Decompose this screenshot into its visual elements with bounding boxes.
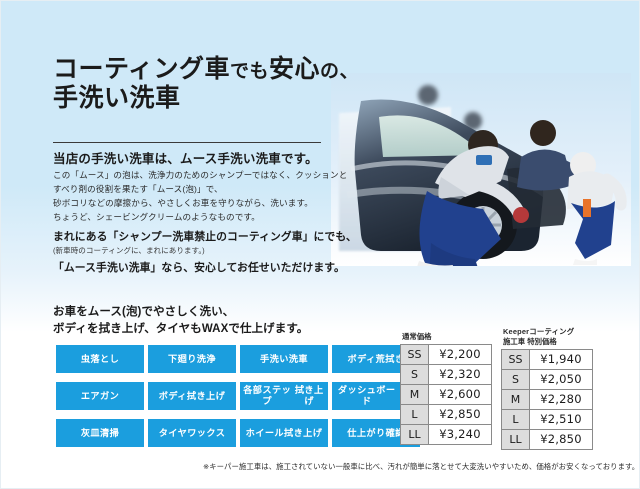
service-chip-label: ホイール bbox=[246, 428, 284, 439]
price-row: S¥2,050 bbox=[502, 369, 593, 389]
price-amount-cell: ¥2,320 bbox=[429, 364, 492, 384]
page-title-line1: コーティング車でも安心の、 bbox=[53, 55, 353, 84]
title-part-main: コーティング車 bbox=[53, 55, 230, 83]
service-chip[interactable]: 各部ステップ拭き上げ bbox=[240, 382, 328, 410]
price-table-keeper-grid: SS¥1,940S¥2,050M¥2,280L¥2,510LL¥2,850 bbox=[501, 349, 593, 450]
price-size-cell: LL bbox=[401, 424, 429, 444]
service-chip-label: 下廻り洗浄 bbox=[168, 354, 216, 365]
price-table-normal-title: 通常価格 bbox=[402, 332, 492, 342]
service-chip[interactable]: ボディ拭き上げ bbox=[148, 382, 236, 410]
service-chip[interactable]: タイヤワックス bbox=[148, 419, 236, 447]
title-divider bbox=[53, 142, 321, 143]
service-chip-label: ダッシュボード bbox=[334, 385, 399, 407]
body-line: ちょうど、シェービングクリームのようなものです。 bbox=[53, 211, 353, 225]
price-table-keeper: Keeperコーティング 施工車 特別価格 SS¥1,940S¥2,050M¥2… bbox=[501, 327, 593, 450]
service-chip-label: タイヤワックス bbox=[159, 428, 226, 439]
service-chip-label: 仕上がり確認 bbox=[347, 428, 405, 439]
body-line: 砂ボコリなどの摩擦から、やさしくお車を守りながら、洗います。 bbox=[53, 197, 353, 211]
price-row: LL¥2,850 bbox=[502, 429, 593, 449]
service-chip-label: 各部ステップ bbox=[242, 385, 292, 407]
price-size-cell: L bbox=[502, 409, 530, 429]
price-amount-cell: ¥3,240 bbox=[429, 424, 492, 444]
service-chip[interactable]: ホイール拭き上げ bbox=[240, 419, 328, 447]
body-strong-2: 「ムース手洗い洗車」なら、安心してお任せいただけます。 bbox=[53, 260, 353, 277]
service-chip-label: 拭き上げ bbox=[284, 428, 322, 439]
price-amount-cell: ¥2,050 bbox=[530, 369, 593, 389]
price-row: LL¥3,240 bbox=[401, 424, 492, 444]
price-size-cell: M bbox=[401, 384, 429, 404]
footnote: ※キーパー施工車は、施工されていない一般車に比べ、汚れが簡単に落とせて大変洗いや… bbox=[203, 462, 633, 472]
service-chip-label: 手洗い洗車 bbox=[260, 354, 308, 365]
lead-statement: 当店の手洗い洗車は、ムース手洗い洗車です。 bbox=[53, 148, 343, 167]
body-note: (新車時のコーティングに、まれにあります。) bbox=[53, 245, 353, 256]
price-row: SS¥1,940 bbox=[502, 349, 593, 369]
service-chip-label: 灰皿清掃 bbox=[81, 428, 119, 439]
price-table-normal-grid: SS¥2,200S¥2,320M¥2,600L¥2,850LL¥3,240 bbox=[400, 344, 492, 445]
price-size-cell: S bbox=[502, 369, 530, 389]
service-chip[interactable]: 虫落とし bbox=[56, 345, 144, 373]
service-chip-label: ボディ bbox=[159, 391, 187, 402]
service-chip-label: 拭き上げ bbox=[187, 391, 225, 402]
price-size-cell: S bbox=[401, 364, 429, 384]
price-row: L¥2,510 bbox=[502, 409, 593, 429]
price-row: M¥2,600 bbox=[401, 384, 492, 404]
price-size-cell: LL bbox=[502, 429, 530, 449]
price-size-cell: SS bbox=[502, 349, 530, 369]
service-chip[interactable]: 手洗い洗車 bbox=[240, 345, 328, 373]
price-row: M¥2,280 bbox=[502, 389, 593, 409]
service-chip-label: 虫落とし bbox=[81, 354, 119, 365]
service-heading: お車をムース(泡)でやさしく洗い、 ボディを拭き上げ、タイヤもWAXで仕上げます… bbox=[53, 304, 383, 339]
service-heading-line2: ボディを拭き上げ、タイヤもWAXで仕上げます。 bbox=[53, 321, 383, 338]
title-part-demo: でも bbox=[230, 61, 269, 82]
price-size-cell: L bbox=[401, 404, 429, 424]
price-amount-cell: ¥2,600 bbox=[429, 384, 492, 404]
body-line: この「ムース」の泡は、洗浄力のためのシャンプーではなく、クッションと bbox=[53, 169, 353, 183]
hand-wash-photo bbox=[331, 73, 631, 266]
price-table-keeper-title: Keeperコーティング 施工車 特別価格 bbox=[503, 327, 593, 347]
keeper-title-line1: Keeperコーティング bbox=[503, 327, 574, 336]
service-heading-line1: お車をムース(泡)でやさしく洗い、 bbox=[53, 304, 383, 321]
promo-page: コーティング車でも安心の、 手洗い洗車 当店の手洗い洗車は、ムース手洗い洗車です… bbox=[0, 0, 640, 489]
title-part-anshin: 安心 bbox=[269, 55, 320, 83]
price-amount-cell: ¥2,280 bbox=[530, 389, 593, 409]
page-title: コーティング車でも安心の、 手洗い洗車 bbox=[53, 55, 353, 113]
keeper-title-line2: 施工車 特別価格 bbox=[503, 337, 557, 346]
service-chip-grid: 虫落とし下廻り洗浄手洗い洗車ボディ荒拭きエアガンボディ拭き上げ各部ステップ拭き上… bbox=[56, 345, 420, 447]
price-amount-cell: ¥2,850 bbox=[530, 429, 593, 449]
service-chip[interactable]: エアガン bbox=[56, 382, 144, 410]
price-row: L¥2,850 bbox=[401, 404, 492, 424]
price-amount-cell: ¥1,940 bbox=[530, 349, 593, 369]
body-line: すべり剤の役割を果たす「ムース(泡)」で、 bbox=[53, 183, 353, 197]
service-chip[interactable]: 下廻り洗浄 bbox=[148, 345, 236, 373]
price-size-cell: SS bbox=[401, 344, 429, 364]
title-part-no: の、 bbox=[320, 61, 359, 82]
price-amount-cell: ¥2,850 bbox=[429, 404, 492, 424]
price-amount-cell: ¥2,510 bbox=[530, 409, 593, 429]
price-row: S¥2,320 bbox=[401, 364, 492, 384]
service-chip-label: エアガン bbox=[81, 391, 119, 402]
service-chip[interactable]: 灰皿清掃 bbox=[56, 419, 144, 447]
price-size-cell: M bbox=[502, 389, 530, 409]
price-row: SS¥2,200 bbox=[401, 344, 492, 364]
price-table-normal: 通常価格 SS¥2,200S¥2,320M¥2,600L¥2,850LL¥3,2… bbox=[400, 332, 492, 445]
body-strong-1: まれにある「シャンプー洗車禁止のコーティング車」にでも、 bbox=[53, 229, 353, 246]
service-chip-label: ボディ荒拭き bbox=[348, 354, 405, 365]
body-copy: この「ムース」の泡は、洗浄力のためのシャンプーではなく、クッションと すべり剤の… bbox=[53, 169, 353, 277]
page-title-line2: 手洗い洗車 bbox=[53, 84, 353, 113]
price-amount-cell: ¥2,200 bbox=[429, 344, 492, 364]
service-chip-label: 拭き上げ bbox=[292, 385, 326, 407]
